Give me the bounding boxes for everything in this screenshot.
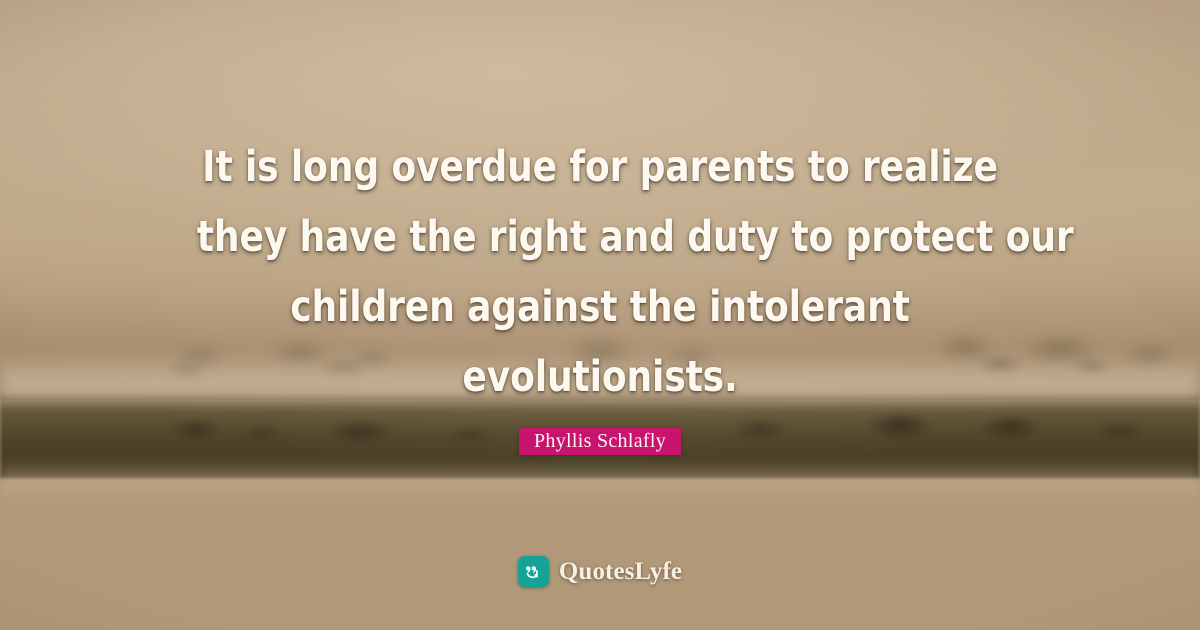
brand-name: QuotesLyfe xyxy=(559,558,682,586)
quote-line: children against the intolerant xyxy=(197,272,1003,342)
quote-card: It is long overdue for parents to realiz… xyxy=(0,0,1200,630)
author-badge[interactable]: Phyllis Schlafly xyxy=(519,428,681,455)
brand-watermark[interactable]: QuotesLyfe xyxy=(0,556,1200,587)
quote-line: It is long overdue for parents to realiz… xyxy=(197,132,1003,202)
quote-line: they have the right and duty to protect … xyxy=(197,202,1003,272)
quote-smiley-icon xyxy=(518,556,549,587)
author-attribution: Phyllis Schlafly xyxy=(0,428,1200,455)
quote-text: It is long overdue for parents to realiz… xyxy=(0,132,1200,412)
quote-line: evolutionists. xyxy=(197,342,1003,412)
